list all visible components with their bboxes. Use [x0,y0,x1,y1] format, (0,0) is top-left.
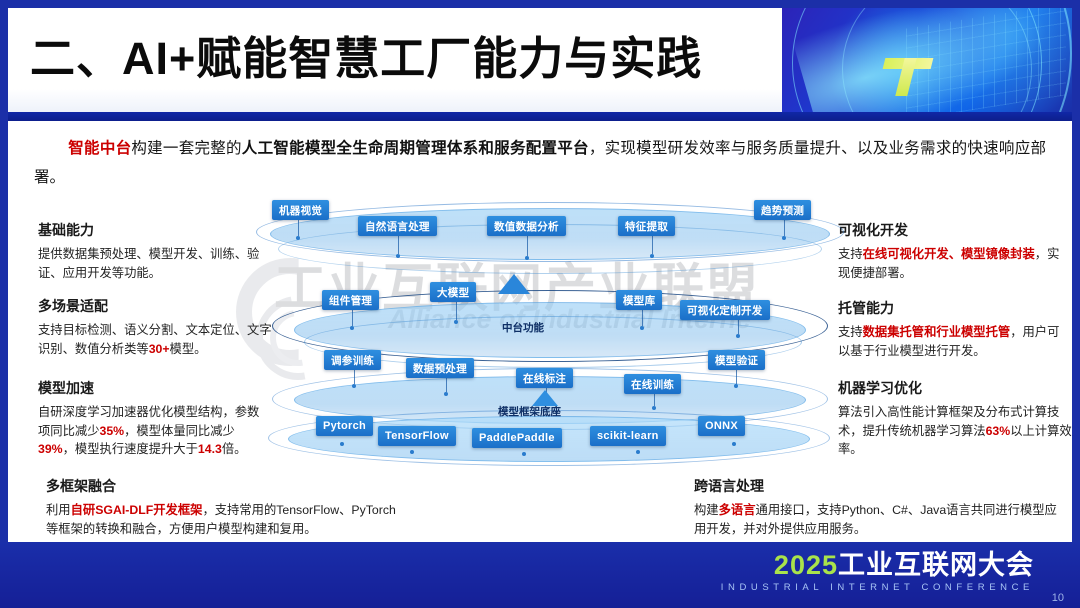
diagram-label-base-layer: 模型框架底座 [498,404,561,419]
connector-node [396,254,400,258]
connector-stem [784,220,785,236]
connector-node [525,256,529,260]
diagram-pill-mid-1[interactable]: 大模型 [430,282,476,302]
connector-stem [398,236,399,254]
feature-block-cross-language: 跨语言处理 构建多语言通用接口，支持Python、C#、Java语言共同进行模型… [694,476,1066,538]
page-number: 10 [1052,592,1064,604]
feature-block-multi-framework: 多框架融合 利用自研SGAI-DLF开发框架，支持常用的TensorFlow、P… [46,476,406,538]
slide-footer: 2025工业互联网大会 INDUSTRIAL INTERNET CONFEREN… [0,542,1080,608]
diagram-pill-low-1[interactable]: 数据预处理 [406,358,474,378]
intro-bold: 人工智能模型全生命周期管理体系和服务配置平台 [242,140,589,157]
block-heading: 可视化开发 [838,220,1070,240]
diagram-pill-base-4[interactable]: ONNX [698,416,745,436]
diagram-pill-top-4[interactable]: 趋势预测 [754,200,811,220]
connector-node [444,392,448,396]
diagram-pill-base-2[interactable]: PaddlePaddle [472,428,562,448]
t-logo-icon [878,52,938,98]
slide-header: 二、AI+赋能智慧工厂能力与实践 [8,8,1072,112]
block-body: 算法引入高性能计算框架及分布式计算技术，提升传统机器学习算法63%以上计算效率。 [838,403,1072,459]
feature-block-model-acceleration: 模型加速 自研深度学习加速器优化模型结构，参数项同比减少35%，模型体量同比减少… [38,378,270,459]
brand-title: 2025工业互联网大会 [721,550,1034,580]
body-text: ，模型执行速度提升大于 [63,442,198,456]
intro-paragraph: 智能中台构建一套完整的人工智能模型全生命周期管理体系和服务配置平台，实现模型研发… [34,134,1046,192]
connector-node [340,442,344,446]
connector-stem [527,236,528,256]
diagram-pill-base-3[interactable]: scikit-learn [590,426,666,446]
highlight-text: 14.3 [198,442,222,456]
connector-stem [652,236,653,254]
feature-block-basic-capability: 基础能力 提供数据集预处理、模型开发、训练、验证、应用开发等功能。 [38,220,276,282]
up-arrow-icon-center [498,274,530,294]
connector-node [636,450,640,454]
connector-stem [456,302,457,320]
platform-architecture-diagram: 机器视觉 自然语言处理 数值数据分析 特征提取 趋势预测 组件管理 大模型 模型… [254,198,844,466]
diagram-pill-low-0[interactable]: 调参训练 [324,350,381,370]
highlight-text: 在线可视化开发、模型镜像封装 [863,247,1035,261]
highlight-text: 39% [38,442,63,456]
connector-node [352,384,356,388]
slide-frame: 二、AI+赋能智慧工厂能力与实践 智能中台构建一套完整的人工智能模型全生命周期管… [0,0,1080,608]
slide-content: 二、AI+赋能智慧工厂能力与实践 智能中台构建一套完整的人工智能模型全生命周期管… [8,8,1072,542]
connector-node [650,254,654,258]
connector-node [410,450,414,454]
block-body: 利用自研SGAI-DLF开发框架，支持常用的TensorFlow、PyTorch… [46,501,406,538]
connector-stem [738,320,739,334]
block-body: 构建多语言通用接口，支持Python、C#、Java语言共同进行模型应用开发，并… [694,501,1066,538]
connector-node [640,326,644,330]
block-heading: 托管能力 [838,298,1070,318]
diagram-pill-top-3[interactable]: 特征提取 [618,216,675,236]
highlight-text: 自研SGAI-DLF开发框架 [71,503,203,517]
block-heading: 模型加速 [38,378,270,398]
feature-block-hosting-capability: 托管能力 支持数据集托管和行业模型托管，用户可以基于行业模型进行开发。 [838,298,1070,360]
brand-name-cn: 工业互联网大会 [838,550,1034,580]
intro-highlight: 智能中台 [68,140,131,157]
connector-node [782,236,786,240]
connector-node [522,452,526,456]
block-body: 提供数据集预处理、模型开发、训练、验证、应用开发等功能。 [38,245,276,282]
block-heading: 跨语言处理 [694,476,1066,496]
block-body: 支持在线可视化开发、模型镜像封装，实现便捷部署。 [838,245,1070,282]
header-divider [8,112,1072,121]
block-body: 支持目标检测、语义分割、文本定位、文字识别、数值分析类等30+模型。 [38,321,276,358]
body-text: ，模型体量同比减少 [124,424,235,438]
header-decoration-graphic [782,8,1072,112]
feature-block-multi-scenario: 多场景适配 支持目标检测、语义分割、文本定位、文字识别、数值分析类等30+模型。 [38,296,276,358]
block-heading: 多框架融合 [46,476,406,496]
body-text: 提供数据集预处理、模型开发、训练、验证、应用开发等功能。 [38,247,259,280]
conference-branding: 2025工业互联网大会 INDUSTRIAL INTERNET CONFEREN… [721,550,1034,593]
diagram-pill-low-4[interactable]: 模型验证 [708,350,765,370]
body-text: 构建 [694,503,719,517]
highlight-text: 多语言 [719,503,756,517]
highlight-text: 30+ [149,342,170,356]
connector-node [734,384,738,388]
connector-stem [298,220,299,236]
highlight-text: 35% [100,424,125,438]
block-body: 支持数据集托管和行业模型托管，用户可以基于行业模型进行开发。 [838,323,1070,360]
connector-stem [354,370,355,384]
body-text: 利用 [46,503,71,517]
brand-subtitle-en: INDUSTRIAL INTERNET CONFERENCE [721,582,1034,593]
brand-year: 2025 [774,550,838,580]
highlight-text: 数据集托管和行业模型托管 [863,325,1011,339]
diagram-pill-base-0[interactable]: Pytorch [316,416,373,436]
connector-stem [642,310,643,326]
feature-block-ml-optimization: 机器学习优化 算法引入高性能计算框架及分布式计算技术，提升传统机器学习算法63%… [838,378,1072,459]
body-text: 倍。 [222,442,247,456]
connector-node [736,334,740,338]
diagram-pill-mid-2[interactable]: 模型库 [616,290,662,310]
diagram-pill-mid-3[interactable]: 可视化定制开发 [680,300,770,320]
connector-node [732,442,736,446]
connector-stem [736,370,737,384]
connector-node [454,320,458,324]
page-title: 二、AI+赋能智慧工厂能力与实践 [30,22,702,87]
diagram-pill-mid-0[interactable]: 组件管理 [322,290,379,310]
connector-stem [654,394,655,406]
diagram-pill-low-2[interactable]: 在线标注 [516,368,573,388]
block-heading: 机器学习优化 [838,378,1072,398]
block-heading: 多场景适配 [38,296,276,316]
highlight-text: 63% [986,424,1011,438]
feature-block-visual-development: 可视化开发 支持在线可视化开发、模型镜像封装，实现便捷部署。 [838,220,1070,282]
intro-text-1: 构建一套完整的 [131,140,241,157]
connector-stem [446,378,447,392]
connector-node [350,326,354,330]
diagram-pill-top-0[interactable]: 机器视觉 [272,200,329,220]
connector-node [652,406,656,410]
connector-stem [352,310,353,326]
diagram-pill-top-2[interactable]: 数值数据分析 [487,216,566,236]
diagram-pill-top-1[interactable]: 自然语言处理 [358,216,437,236]
block-body: 自研深度学习加速器优化模型结构，参数项同比减少35%，模型体量同比减少39%，模… [38,403,270,459]
connector-node [296,236,300,240]
body-text: 模型。 [170,342,207,356]
diagram-pill-low-3[interactable]: 在线训练 [624,374,681,394]
diagram-label-mid-layer: 中台功能 [502,320,544,335]
diagram-pill-base-1[interactable]: TensorFlow [378,426,456,446]
block-heading: 基础能力 [38,220,276,240]
